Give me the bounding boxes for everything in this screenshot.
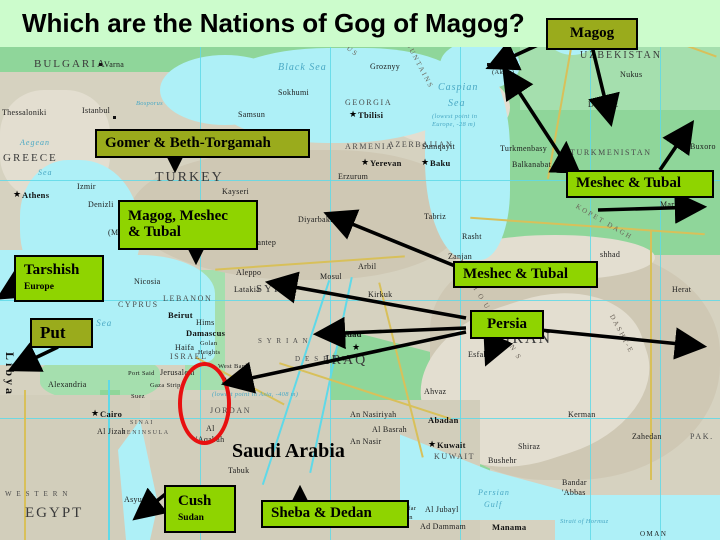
arrow-meshec-tubal-north-to-turkmenbasy: [565, 148, 566, 168]
callout-meshec-tubal-central-label: Meshec & Tubal: [455, 267, 596, 283]
arrow-persia-to-aleppo: [272, 283, 466, 318]
callout-magog-top-label: Magog: [562, 26, 622, 42]
callout-magog-meshec-tubal[interactable]: Magog, Meshec & Tubal: [118, 200, 258, 250]
callout-sheba-dedan-label: Sheba & Dedan: [263, 506, 407, 522]
arrow-magog-to-caspian: [492, 44, 540, 66]
arrow-meshec-tubal-central-to-diyarbakir: [330, 215, 460, 268]
callout-put[interactable]: Put: [30, 318, 93, 348]
arrow-put-to-libya: [14, 347, 58, 368]
callout-cush-label: Cush: [166, 494, 234, 510]
arrow-magog-to-uzbekistan: [592, 46, 610, 120]
arrow-persia-to-baghdad: [320, 328, 466, 334]
callout-put-label: Put: [32, 324, 91, 342]
arrow-tarshish-stem: [2, 290, 12, 296]
callout-gomer-beth-torgamah[interactable]: Gomer & Beth-Torgamah: [95, 129, 310, 158]
callout-cush-sub: Sudan: [166, 513, 234, 524]
arrow-persia-stem: [488, 342, 496, 360]
callout-meshec-tubal-north-label: Meshec & Tubal: [568, 176, 712, 192]
arrow-meshec-tubal-north-to-buxoro: [660, 126, 690, 170]
callout-cush[interactable]: Cush Sudan: [164, 485, 236, 533]
callout-gomer-label: Gomer & Beth-Torgamah: [97, 136, 308, 152]
arrow-meshec-tubal-north-to-caspian: [506, 72, 570, 170]
arrow-persia-to-afg-east: [540, 330, 700, 346]
callout-persia[interactable]: Persia: [470, 310, 544, 339]
callout-sheba-dedan[interactable]: Sheba & Dedan: [261, 500, 409, 528]
arrow-meshec-tubal-north-to-afg: [598, 207, 700, 210]
callout-tarshish[interactable]: Tarshish Europe: [14, 255, 104, 302]
callout-meshec-tubal-north[interactable]: Meshec & Tubal: [566, 170, 714, 198]
callout-tarshish-sub: Europe: [16, 282, 102, 293]
callout-magog-meshec-line1: Magog, Meshec: [120, 209, 256, 225]
page-title: Which are the Nations of Gog of Magog?: [0, 8, 525, 39]
callout-persia-label: Persia: [479, 317, 535, 333]
arrow-persia-to-jordan: [228, 332, 466, 383]
callout-magog-top[interactable]: Magog: [546, 18, 638, 50]
slide-root: BULGARIA GREECE TURKEY GEORGIA ARMENIA A…: [0, 0, 720, 540]
callout-meshec-tubal-central[interactable]: Meshec & Tubal: [453, 261, 598, 288]
callout-tarshish-label: Tarshish: [16, 263, 102, 279]
callout-magog-meshec-line2: & Tubal: [120, 225, 256, 241]
arrow-layer: [0, 0, 720, 540]
